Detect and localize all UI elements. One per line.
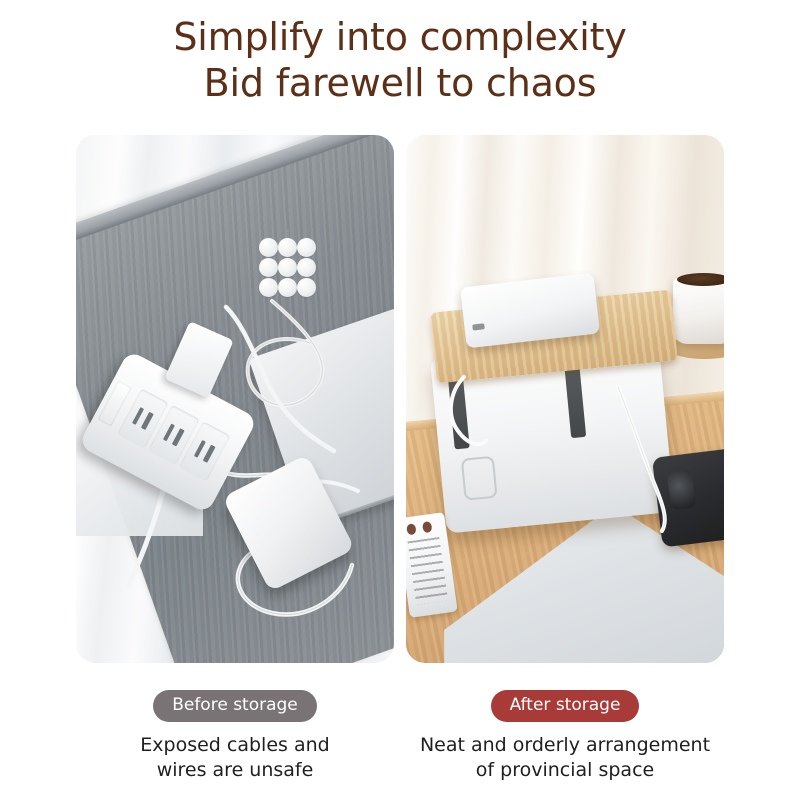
after-caption-line-2: of provincial space	[406, 758, 724, 783]
before-photo	[76, 135, 394, 663]
headline-line-2: Bid farewell to chaos	[0, 60, 800, 106]
bubble-cube-candle	[259, 238, 316, 300]
page-title: Simplify into complexity Bid farewell to…	[0, 14, 800, 106]
status-badge-after: After storage	[491, 690, 640, 722]
managed-cables	[406, 135, 724, 663]
before-caption-block: Before storage Exposed cables and wires …	[76, 690, 394, 783]
after-photo	[406, 135, 724, 663]
comparison-panels	[0, 135, 800, 663]
after-caption-text: Neat and orderly arrangement of provinci…	[406, 733, 724, 783]
after-caption-line-1: Neat and orderly arrangement	[406, 733, 724, 758]
status-badge-before: Before storage	[153, 690, 317, 722]
before-caption-line-2: wires are unsafe	[76, 758, 394, 783]
before-scene	[76, 135, 394, 663]
captions-row: Before storage Exposed cables and wires …	[0, 690, 800, 800]
after-caption-block: After storage Neat and orderly arrangeme…	[406, 690, 724, 783]
before-caption-line-1: Exposed cables and	[76, 733, 394, 758]
after-scene	[406, 135, 724, 663]
before-caption-text: Exposed cables and wires are unsafe	[76, 733, 394, 783]
headline-line-1: Simplify into complexity	[0, 14, 800, 60]
